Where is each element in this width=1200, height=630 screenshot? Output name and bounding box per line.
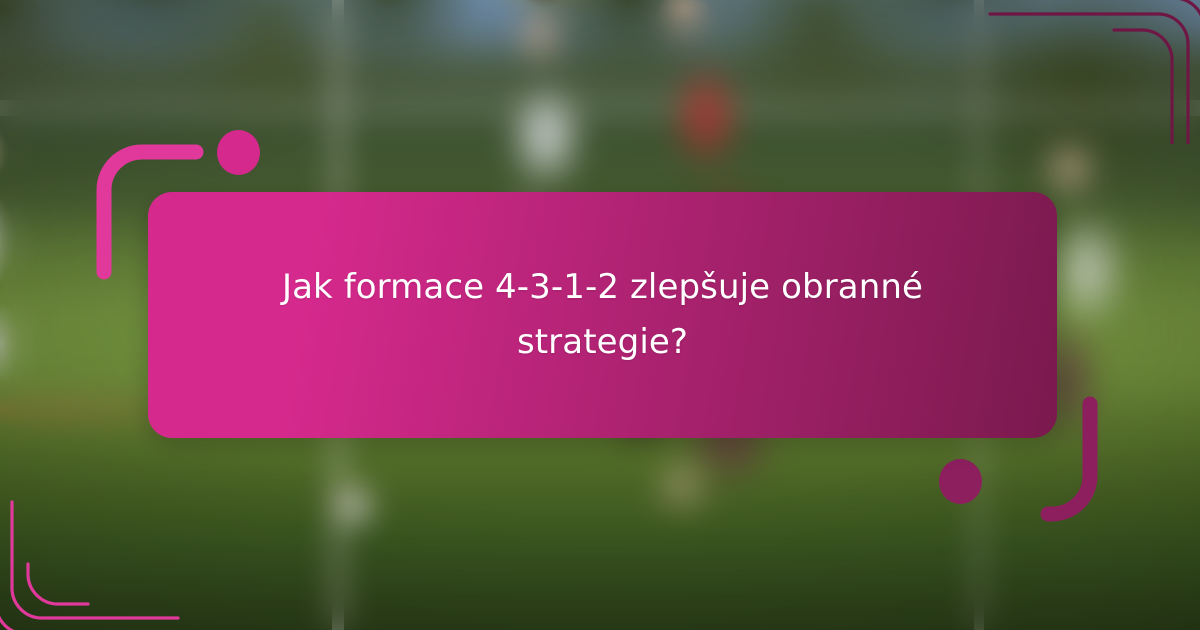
share-card-canvas: Jak formace 4-3-1-2 zlepšuje obranné str… (0, 0, 1200, 630)
accent-dot-top-left-icon (217, 130, 260, 175)
card-title: Jak formace 4-3-1-2 zlepšuje obranné str… (243, 260, 963, 370)
accent-dot-bottom-right-icon (939, 459, 982, 504)
headline-card: Jak formace 4-3-1-2 zlepšuje obranné str… (148, 192, 1057, 438)
